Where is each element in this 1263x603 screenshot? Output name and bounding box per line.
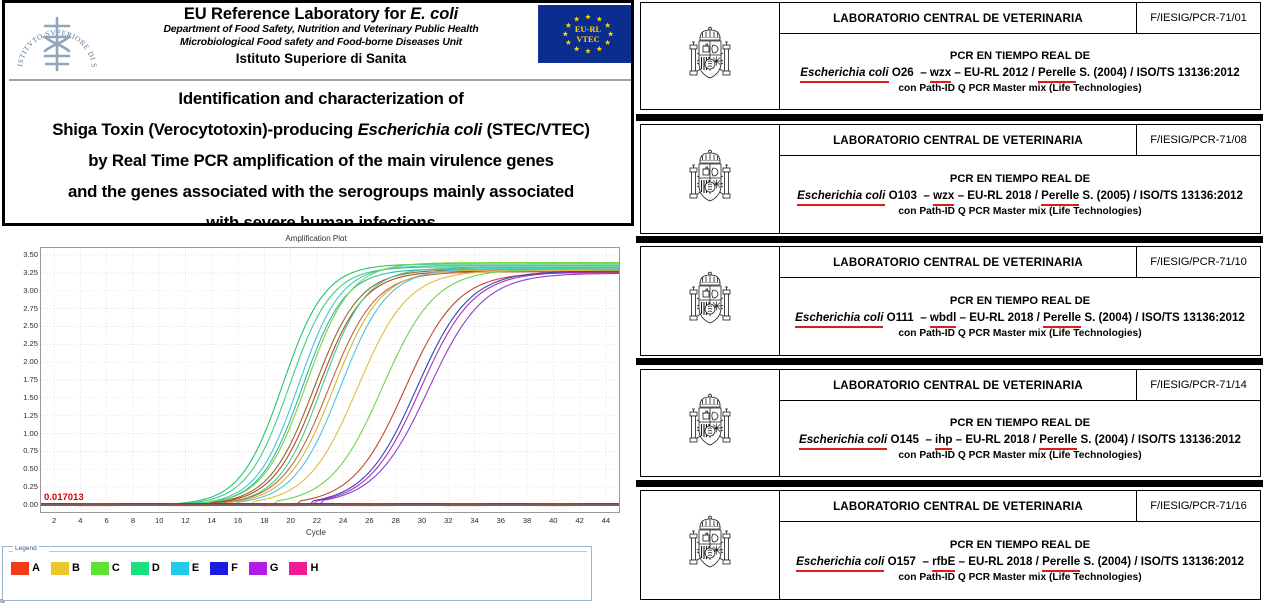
chart-y-tick: 3.00 <box>2 286 38 295</box>
spanish-coat-of-arms-icon <box>684 148 736 210</box>
chart-x-tick: 22 <box>313 516 321 525</box>
chart-x-tick: 12 <box>181 516 189 525</box>
header-divider <box>9 79 633 81</box>
document-code: F/IESIG/PCR-71/08 <box>1136 125 1260 155</box>
chart-x-tick: 28 <box>391 516 399 525</box>
chart-y-tick: 0.25 <box>2 482 38 491</box>
record-text-cell: LABORATORIO CENTRAL DE VETERINARIA F/IES… <box>780 370 1260 476</box>
document-code: F/IESIG/PCR-71/10 <box>1136 247 1260 277</box>
assay-line-3: con Path-ID Q PCR Master mix (Life Techn… <box>898 81 1141 96</box>
chart-x-tick: 18 <box>260 516 268 525</box>
assay-line-3: con Path-ID Q PCR Master mix (Life Techn… <box>898 204 1141 219</box>
assay-line-1: PCR EN TIEMPO REAL DE <box>950 538 1090 553</box>
lab-name: LABORATORIO CENTRAL DE VETERINARIA <box>780 247 1136 277</box>
chart-y-tick: 1.50 <box>2 393 38 402</box>
assay-line-2: Escherichia coli O103 – wzx – EU-RL 2018… <box>797 187 1243 204</box>
chart-x-tick: 42 <box>575 516 583 525</box>
organism-name: Escherichia coli <box>797 187 885 204</box>
chart-curve-curve-16 <box>41 272 619 505</box>
organism-name: Escherichia coli <box>795 309 883 326</box>
legend-label: E <box>192 562 199 574</box>
legend-label: G <box>270 562 279 574</box>
row-separator-bar <box>636 480 1263 487</box>
row-separator-bar <box>636 236 1263 243</box>
chart-x-tick: 34 <box>470 516 478 525</box>
spanish-coat-of-arms-icon <box>684 514 736 576</box>
assay-line-3: con Path-ID Q PCR Master mix (Life Techn… <box>898 326 1141 341</box>
organism-name: Escherichia coli <box>799 431 887 448</box>
gene-name: wzx <box>933 187 954 204</box>
spanish-coat-of-arms-icon <box>684 25 736 87</box>
author-year: S. (2004) <box>1084 311 1132 324</box>
chart-x-tick: 14 <box>208 516 216 525</box>
chart-x-tick: 6 <box>105 516 109 525</box>
row-separator-bar <box>636 114 1263 121</box>
chart-x-tick: 10 <box>155 516 163 525</box>
chart-y-tick: 3.25 <box>2 268 38 277</box>
serogroup: O26 <box>892 66 914 79</box>
chart-x-tick: 44 <box>602 516 610 525</box>
title-body: Identification and characterization of S… <box>5 83 634 226</box>
assay-line-1: PCR EN TIEMPO REAL DE <box>950 294 1090 309</box>
assay-description: PCR EN TIEMPO REAL DE Escherichia coli O… <box>780 522 1260 599</box>
seal-cell <box>641 491 780 599</box>
assay-description: PCR EN TIEMPO REAL DE Escherichia coli O… <box>780 278 1260 355</box>
legend-label: D <box>152 562 160 574</box>
lab-header-bar: LABORATORIO CENTRAL DE VETERINARIA F/IES… <box>780 247 1260 278</box>
legend-swatch-icon <box>289 562 307 575</box>
lab-institute: Istituto Superiore di Sanita <box>109 50 533 67</box>
legend-label: H <box>310 562 318 574</box>
author-name: Perelle <box>1038 64 1076 81</box>
organism-name: Escherichia coli <box>800 64 888 81</box>
right-panel: LABORATORIO CENTRAL DE VETERINARIA F/IES… <box>636 0 1263 603</box>
legend-item-g[interactable]: G <box>249 562 279 575</box>
chart-threshold-label: 0.017013 <box>44 492 84 503</box>
lab-name: LABORATORIO CENTRAL DE VETERINARIA <box>780 3 1136 33</box>
lab-header-bar: LABORATORIO CENTRAL DE VETERINARIA F/IES… <box>780 491 1260 522</box>
title-line-1: Identification and characterization of <box>5 83 634 114</box>
spanish-coat-of-arms-icon <box>684 270 736 332</box>
chart-y-tick: 0.50 <box>2 464 38 473</box>
seal-cell <box>641 125 780 233</box>
chart-x-tick: 36 <box>497 516 505 525</box>
title-card: ISTITVTO SVPERIORE DI SANITA <box>2 0 634 226</box>
author-name: Perelle <box>1041 187 1079 204</box>
document-code: F/IESIG/PCR-71/16 <box>1136 491 1260 521</box>
gene-name: wbdl <box>930 309 956 326</box>
legend-frame-right <box>49 551 587 552</box>
screenshot-root: ISTITVTO SVPERIORE DI SANITA <box>0 0 1263 603</box>
chart-x-tick: 32 <box>444 516 452 525</box>
author-name: Perelle <box>1042 553 1080 570</box>
header-text-block: EU Reference Laboratory for E. coli Depa… <box>109 5 533 67</box>
standard-ref: ISO/TS 13136:2012 <box>1138 433 1241 446</box>
legend-swatch-icon <box>51 562 69 575</box>
author-year: S. (2004) <box>1083 555 1131 568</box>
chart-curves <box>41 248 619 512</box>
legend-item-b[interactable]: B <box>51 562 80 575</box>
chart-y-tick: 1.25 <box>2 411 38 420</box>
lab-header-bar: LABORATORIO CENTRAL DE VETERINARIA F/IES… <box>780 125 1260 156</box>
assay-record-row: LABORATORIO CENTRAL DE VETERINARIA F/IES… <box>640 2 1261 110</box>
chart-x-tick: 40 <box>549 516 557 525</box>
seal-cell <box>641 3 780 109</box>
chart-y-tick: 0.75 <box>2 446 38 455</box>
legend-caption: Legend <box>13 545 39 552</box>
document-code: F/IESIG/PCR-71/14 <box>1136 370 1260 400</box>
assay-line-1: PCR EN TIEMPO REAL DE <box>950 172 1090 187</box>
spanish-coat-of-arms-icon <box>684 392 736 454</box>
chart-y-tick: 2.50 <box>2 321 38 330</box>
method-source: EU-RL 2018 <box>965 433 1029 446</box>
lab-dept-line1: Department of Food Safety, Nutrition and… <box>109 24 533 37</box>
chart-x-tick: 2 <box>52 516 56 525</box>
chart-curve-curve-14 <box>41 273 619 505</box>
assay-line-3: con Path-ID Q PCR Master mix (Life Techn… <box>898 570 1141 585</box>
assay-description: PCR EN TIEMPO REAL DE Escherichia coli O… <box>780 34 1260 109</box>
serogroup: O103 <box>889 189 917 202</box>
assay-record-row: LABORATORIO CENTRAL DE VETERINARIA F/IES… <box>640 369 1261 477</box>
chart-x-tick: 8 <box>131 516 135 525</box>
legend-swatch-icon <box>171 562 189 575</box>
standard-ref: ISO/TS 13136:2012 <box>1141 555 1244 568</box>
lab-name: LABORATORIO CENTRAL DE VETERINARIA <box>780 125 1136 155</box>
organism-name: Escherichia coli <box>796 553 884 570</box>
chart-x-tick: 24 <box>339 516 347 525</box>
assay-line-1: PCR EN TIEMPO REAL DE <box>950 49 1090 64</box>
assay-description: PCR EN TIEMPO REAL DE Escherichia coli O… <box>780 401 1260 476</box>
assay-record-row: LABORATORIO CENTRAL DE VETERINARIA F/IES… <box>640 490 1261 600</box>
chart-y-tick: 1.00 <box>2 429 38 438</box>
title-line-5: with severe human infections <box>5 207 634 226</box>
lab-header-bar: LABORATORIO CENTRAL DE VETERINARIA F/IES… <box>780 3 1260 34</box>
assay-line-2: Escherichia coli O145 – ihp – EU-RL 2018… <box>799 431 1241 448</box>
chart-x-tick: 4 <box>78 516 82 525</box>
left-panel: ISTITVTO SVPERIORE DI SANITA <box>0 0 636 603</box>
serogroup: O157 <box>888 555 916 568</box>
chart-curve-curve-5 <box>41 263 619 505</box>
lab-dept-line2: Microbiological Food safety and Food-bor… <box>109 37 533 50</box>
chart-x-tick: 26 <box>365 516 373 525</box>
svg-text:VTEC: VTEC <box>576 34 599 44</box>
method-source: EU-RL 2018 <box>969 311 1033 324</box>
chart-y-tick: 2.25 <box>2 339 38 348</box>
record-text-cell: LABORATORIO CENTRAL DE VETERINARIA F/IES… <box>780 125 1260 233</box>
chart-y-ticks: 3.503.253.002.752.502.252.001.751.501.25… <box>0 247 38 513</box>
chart-y-tick: 3.50 <box>2 250 38 259</box>
chart-curve-curve-15 <box>41 271 619 505</box>
serogroup: O145 <box>891 433 919 446</box>
chart-y-tick: 1.75 <box>2 375 38 384</box>
lab-name: LABORATORIO CENTRAL DE VETERINARIA <box>780 370 1136 400</box>
assay-line-2: Escherichia coli O26 – wzx – EU-RL 2012 … <box>800 64 1239 81</box>
chart-curve-curve-7 <box>41 271 619 505</box>
chart-x-tick: 30 <box>418 516 426 525</box>
legend-items: ABCDEFGH <box>11 559 329 577</box>
chart-curve-curve-17 <box>41 273 619 504</box>
legend-item-e[interactable]: E <box>171 562 199 575</box>
assay-record-row: LABORATORIO CENTRAL DE VETERINARIA F/IES… <box>640 246 1261 356</box>
record-text-cell: LABORATORIO CENTRAL DE VETERINARIA F/IES… <box>780 3 1260 109</box>
assay-record-row: LABORATORIO CENTRAL DE VETERINARIA F/IES… <box>640 124 1261 234</box>
legend-swatch-icon <box>131 562 149 575</box>
seal-cell <box>641 247 780 355</box>
chart-title: Amplification Plot <box>0 234 632 243</box>
svg-text:EU-RL: EU-RL <box>575 24 602 34</box>
chart-x-axis-label: Cycle <box>0 528 632 537</box>
standard-ref: ISO/TS 13136:2012 <box>1137 66 1240 79</box>
chart-curve-curve-10 <box>41 270 619 505</box>
assay-description: PCR EN TIEMPO REAL DE Escherichia coli O… <box>780 156 1260 233</box>
method-source: EU-RL 2012 <box>964 66 1028 79</box>
chart-y-tick: 2.75 <box>2 304 38 313</box>
author-year: S. (2004) <box>1080 433 1128 446</box>
chart-curve-curve-9 <box>41 272 619 505</box>
legend-swatch-icon <box>249 562 267 575</box>
assay-line-2: Escherichia coli O111 – wbdl – EU-RL 201… <box>795 309 1245 326</box>
lab-title: EU Reference Laboratory for E. coli <box>109 5 533 24</box>
chart-x-tick: 20 <box>286 516 294 525</box>
chart-plot-area[interactable] <box>40 247 620 513</box>
legend-label: C <box>112 562 120 574</box>
gene-name: rfbE <box>932 553 955 570</box>
row-separator-bar <box>636 358 1263 365</box>
document-code: F/IESIG/PCR-71/01 <box>1136 3 1260 33</box>
serogroup: O111 <box>887 311 914 324</box>
gene-name: wzx <box>930 64 951 81</box>
legend-label: B <box>72 562 80 574</box>
method-source: EU-RL 2018 <box>967 189 1031 202</box>
chart-legend-box: Legend ABCDEFGH <box>2 546 592 601</box>
title-line-2: Shiga Toxin (Verocytotoxin)-producing Es… <box>5 114 634 145</box>
legend-label: F <box>231 562 238 574</box>
record-text-cell: LABORATORIO CENTRAL DE VETERINARIA F/IES… <box>780 491 1260 599</box>
assay-line-2: Escherichia coli O157 – rfbE – EU-RL 201… <box>796 553 1244 570</box>
istituto-superiore-di-sanita-logo: ISTITVTO SVPERIORE DI SANITA <box>9 4 105 76</box>
lab-header-bar: LABORATORIO CENTRAL DE VETERINARIA F/IES… <box>780 370 1260 401</box>
author-name: Perelle <box>1039 431 1077 448</box>
record-text-cell: LABORATORIO CENTRAL DE VETERINARIA F/IES… <box>780 247 1260 355</box>
legend-item-a[interactable]: A <box>11 562 40 575</box>
legend-item-c[interactable]: C <box>91 562 120 575</box>
lab-name: LABORATORIO CENTRAL DE VETERINARIA <box>780 491 1136 521</box>
standard-ref: ISO/TS 13136:2012 <box>1140 189 1243 202</box>
legend-swatch-icon <box>210 562 228 575</box>
title-line-4: and the genes associated with the serogr… <box>5 176 634 207</box>
seal-cell <box>641 370 780 476</box>
chart-curve-curve-12 <box>41 270 619 504</box>
chart-x-tick: 38 <box>523 516 531 525</box>
legend-label: A <box>32 562 40 574</box>
title-line-3: by Real Time PCR amplification of the ma… <box>5 145 634 176</box>
amplification-plot-card: Amplification Plot ΔRn 3.503.253.002.752… <box>0 232 632 547</box>
author-year: S. (2005) <box>1082 189 1130 202</box>
chart-y-tick: 2.00 <box>2 357 38 366</box>
author-name: Perelle <box>1043 309 1081 326</box>
chart-curve-curve-6 <box>41 270 619 505</box>
legend-item-d[interactable]: D <box>131 562 160 575</box>
legend-item-f[interactable]: F <box>210 562 238 575</box>
legend-swatch-icon <box>11 562 29 575</box>
chart-y-tick: 0.00 <box>2 500 38 509</box>
author-year: S. (2004) <box>1079 66 1127 79</box>
chart-x-tick: 16 <box>234 516 242 525</box>
legend-item-h[interactable]: H <box>289 562 318 575</box>
eu-rl-vtec-logo: EU-RL VTEC <box>538 5 634 63</box>
gene-name: ihp <box>935 431 952 448</box>
title-card-header: ISTITVTO SVPERIORE DI SANITA <box>5 3 631 81</box>
legend-swatch-icon <box>91 562 109 575</box>
method-source: EU-RL 2018 <box>968 555 1032 568</box>
assay-line-1: PCR EN TIEMPO REAL DE <box>950 416 1090 431</box>
standard-ref: ISO/TS 13136:2012 <box>1142 311 1245 324</box>
assay-line-3: con Path-ID Q PCR Master mix (Life Techn… <box>898 448 1141 463</box>
